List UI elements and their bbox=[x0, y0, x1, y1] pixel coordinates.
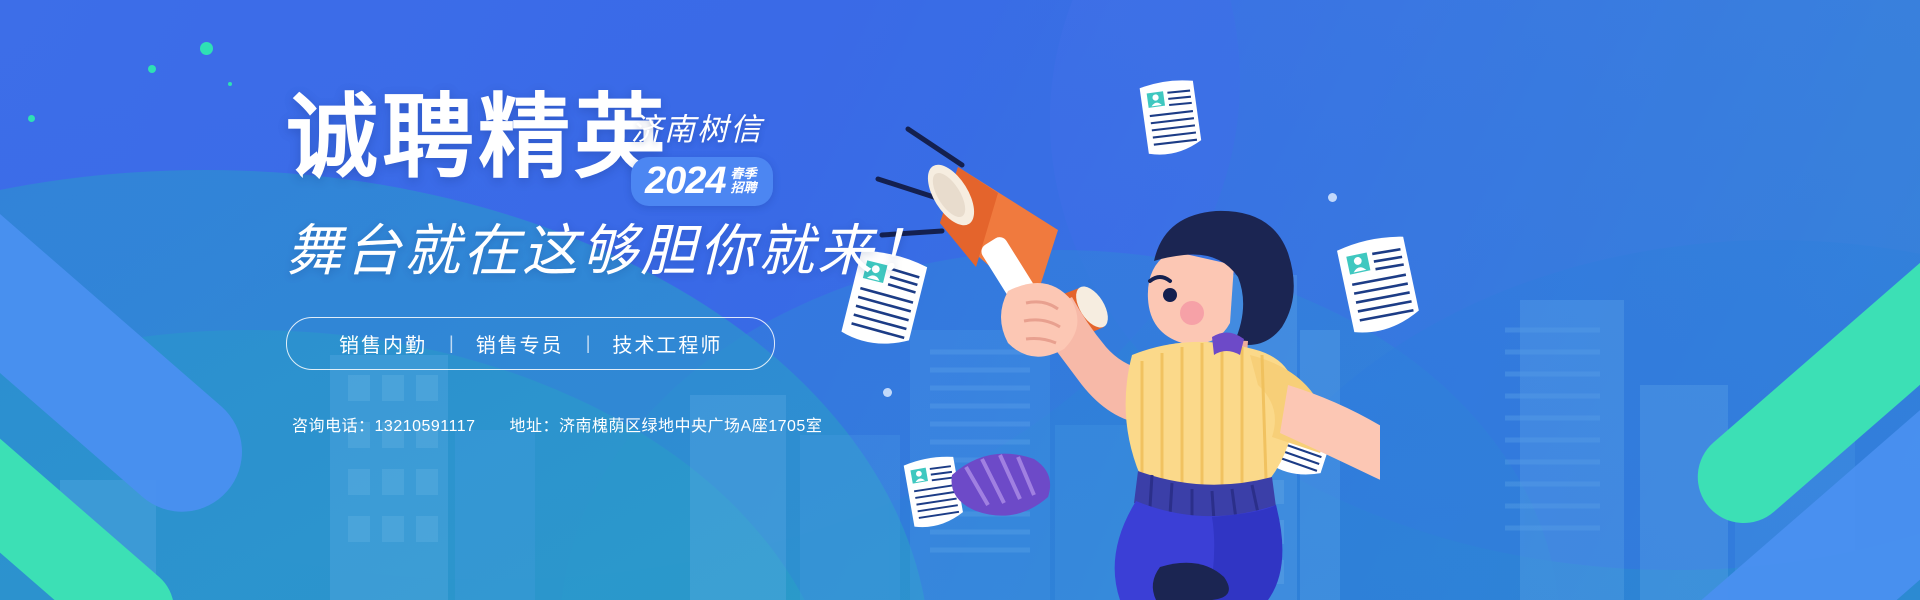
address-value: 济南槐荫区绿地中央广场A座1705室 bbox=[559, 418, 822, 435]
mint-dot bbox=[148, 65, 156, 73]
badge-year: 2024 bbox=[645, 162, 726, 200]
brand-name: 济南树信 bbox=[631, 104, 861, 149]
badge-season: 春季 招聘 bbox=[729, 167, 757, 194]
job-tag-1[interactable]: 销售内勤 bbox=[317, 329, 449, 358]
recruitment-banner: 诚聘精英 济南树信 2024 春季 招聘 舞台就在这够胆你就来！ 销售内勤 | … bbox=[0, 0, 1920, 600]
badge-season-line2: 招聘 bbox=[731, 181, 757, 195]
mint-dot bbox=[28, 115, 35, 122]
job-tag-2[interactable]: 销售专员 bbox=[454, 329, 586, 358]
address-info: 地址：济南槐荫区绿地中央广场A座1705室 bbox=[510, 412, 823, 436]
badge-season-line1: 春季 bbox=[731, 167, 757, 181]
job-tags-list: 销售内勤 | 销售专员 | 技术工程师 bbox=[286, 317, 775, 370]
mint-dot bbox=[200, 42, 213, 55]
year-badge: 2024 春季 招聘 bbox=[631, 157, 773, 206]
job-tag-3[interactable]: 技术工程师 bbox=[590, 329, 744, 358]
subheadline: 舞台就在这够胆你就来！ bbox=[286, 206, 1006, 287]
phone-info: 咨询电话：13210591117 bbox=[292, 412, 476, 436]
banner-copy: 诚聘精英 济南树信 2024 春季 招聘 舞台就在这够胆你就来！ 销售内勤 | … bbox=[286, 92, 1006, 370]
address-label: 地址： bbox=[510, 418, 560, 435]
brand-block: 济南树信 2024 春季 招聘 bbox=[631, 104, 861, 206]
contact-info: 咨询电话：13210591117 地址：济南槐荫区绿地中央广场A座1705室 bbox=[292, 412, 822, 436]
mint-dot bbox=[228, 82, 232, 86]
phone-value[interactable]: 13210591117 bbox=[375, 418, 476, 435]
phone-label: 咨询电话： bbox=[292, 418, 375, 435]
